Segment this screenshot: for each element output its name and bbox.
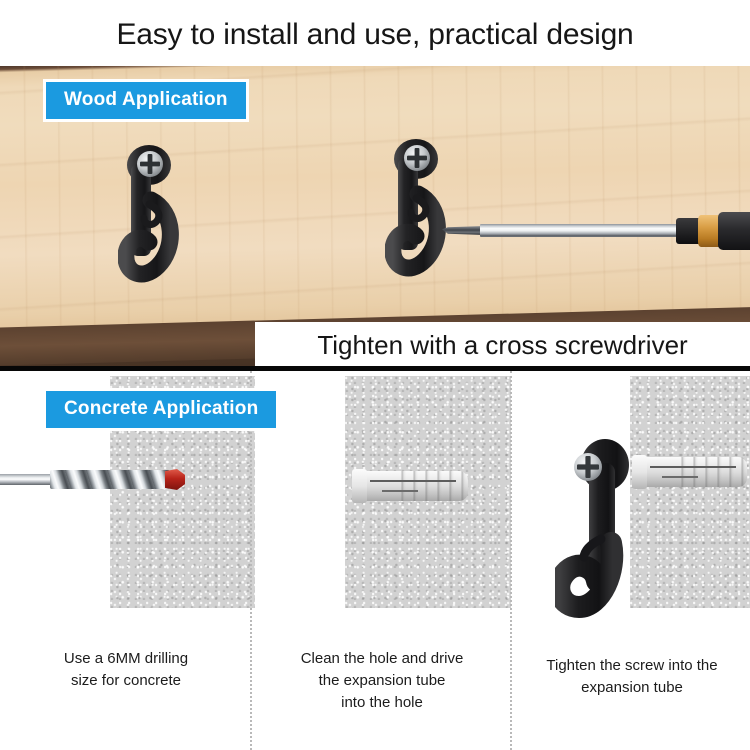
- page-title: Easy to install and use, practical desig…: [0, 16, 750, 54]
- screwdriver-shaft: [480, 224, 680, 237]
- badge-concrete-application: Concrete Application: [43, 388, 279, 431]
- phillips-screwdriver-icon: [442, 214, 750, 248]
- step-caption-line: Clean the hole and drive: [266, 648, 498, 670]
- wood-caption-text: Tighten with a cross screwdriver: [317, 329, 687, 361]
- expansion-tube-icon: [632, 457, 747, 487]
- wall-hook-icon: [385, 136, 449, 296]
- step-divider: [510, 371, 512, 750]
- screwdriver-bit: [442, 226, 484, 235]
- screwdriver-handle: [718, 212, 750, 250]
- step-caption-line: into the hole: [266, 692, 498, 714]
- drill-shank: [0, 474, 57, 485]
- masonry-drill-bit-icon: [0, 468, 205, 490]
- expansion-tube-slot: [662, 476, 698, 478]
- expansion-tube-ribs: [674, 457, 748, 487]
- step-caption-line: expansion tube: [518, 677, 746, 699]
- expansion-tube-slot: [370, 480, 456, 482]
- step-caption-line: the expansion tube: [266, 670, 498, 692]
- badge-wood-application: Wood Application: [43, 79, 249, 122]
- wall-hook-icon: [118, 142, 182, 302]
- drill-carbide-tip: [165, 469, 185, 490]
- step-caption-line: size for concrete: [12, 670, 240, 692]
- step-caption-2: Clean the hole and drive the expansion t…: [266, 648, 498, 714]
- expansion-tube-slot: [650, 466, 736, 468]
- step-caption-line: Use a 6MM drilling: [12, 648, 240, 670]
- expansion-tube-collar: [352, 469, 367, 503]
- expansion-tube-icon: [352, 471, 468, 501]
- drill-flute: [50, 470, 170, 489]
- step-caption-3: Tighten the screw into the expansion tub…: [518, 655, 746, 699]
- expansion-tube-slot: [382, 490, 418, 492]
- product-infographic: Easy to install and use, practical desig…: [0, 0, 750, 750]
- wood-caption-band: Tighten with a cross screwdriver: [255, 322, 750, 367]
- concrete-block: [630, 376, 750, 608]
- step-caption-line: Tighten the screw into the: [518, 655, 746, 677]
- step-caption-1: Use a 6MM drilling size for concrete: [12, 648, 240, 692]
- expansion-tube-ribs: [394, 471, 468, 501]
- hook-mounted-icon: [555, 435, 643, 635]
